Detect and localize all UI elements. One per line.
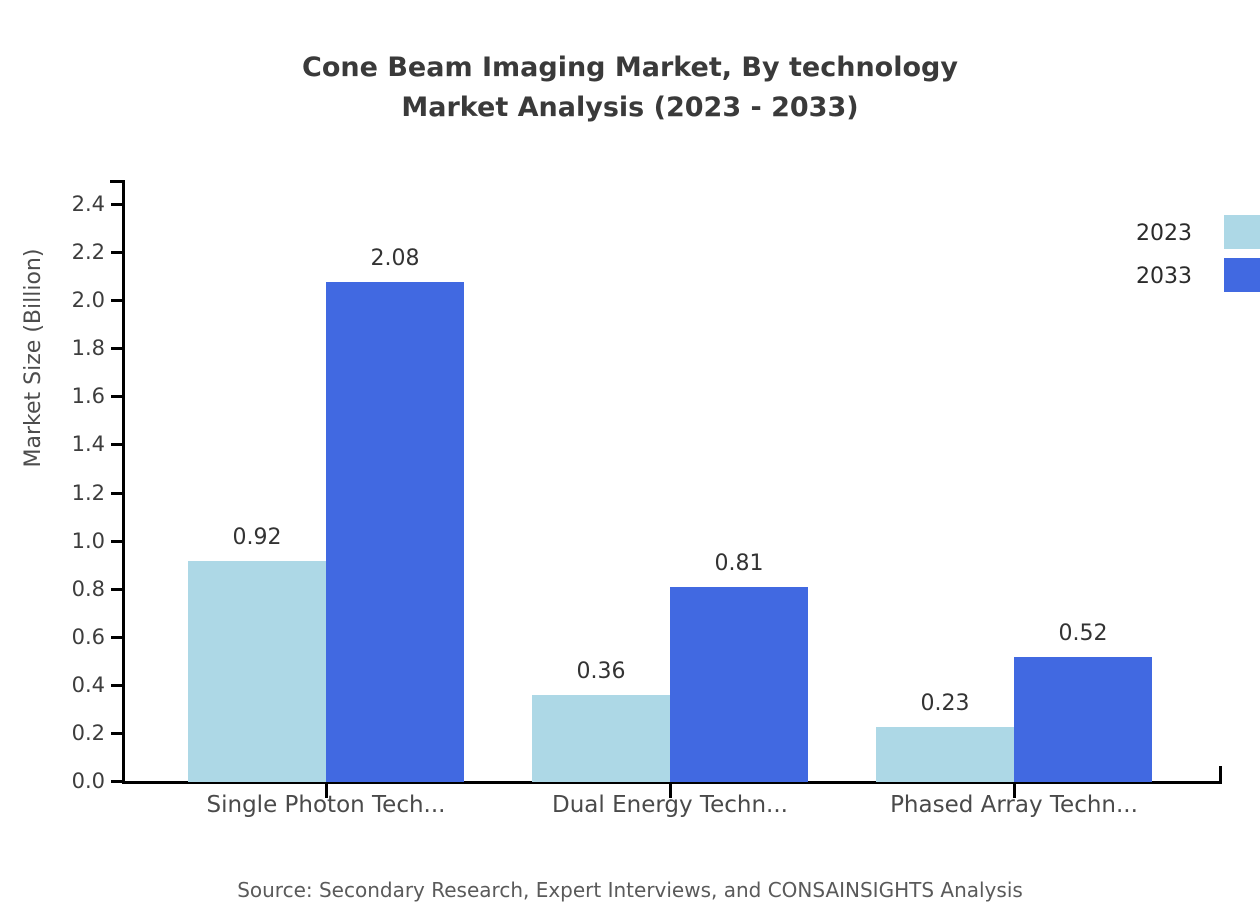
source-note: Source: Secondary Research, Expert Inter… bbox=[0, 878, 1260, 902]
legend-swatch-2023 bbox=[1224, 215, 1260, 249]
legend-label: 2023 bbox=[1060, 221, 1192, 247]
legend-item-2033[interactable]: 2033 bbox=[1060, 258, 1260, 298]
bar-value-label: 2.08 bbox=[295, 245, 495, 273]
chart-figure: Cone Beam Imaging Market, By technology … bbox=[0, 0, 1260, 920]
legend-item-2023[interactable]: 2023 bbox=[1060, 215, 1260, 255]
bar-value-label: 0.81 bbox=[639, 550, 839, 578]
bar-2023-1[interactable] bbox=[188, 561, 326, 782]
bar-2023-2[interactable] bbox=[532, 695, 670, 782]
bar-2023-3[interactable] bbox=[876, 727, 1014, 782]
bar-2033-3[interactable] bbox=[1014, 657, 1152, 782]
x-tick-label-3: Phased Array Techn... bbox=[804, 792, 1224, 818]
bar-value-label: 0.23 bbox=[845, 690, 1045, 718]
bar-value-label: 0.36 bbox=[501, 658, 701, 686]
legend-label: 2033 bbox=[1060, 264, 1192, 290]
chart-legend: 20232033 bbox=[1060, 215, 1260, 310]
legend-swatch-2033 bbox=[1224, 258, 1260, 292]
bar-value-label: 0.52 bbox=[983, 620, 1183, 648]
bar-value-label: 0.92 bbox=[157, 524, 357, 552]
